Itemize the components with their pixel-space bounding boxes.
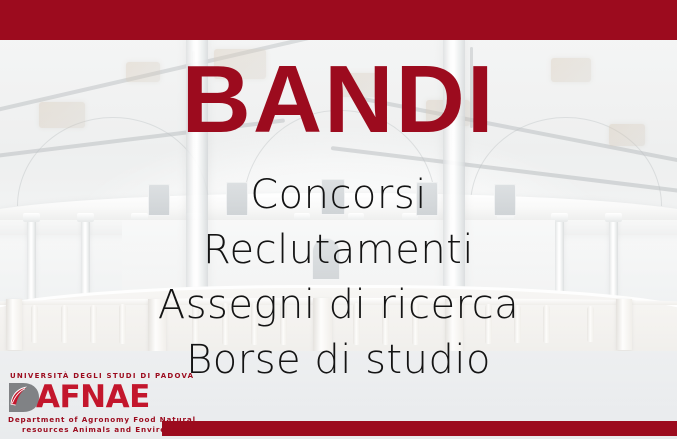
subtitle-concorsi: Concorsi [0, 168, 677, 223]
logo-department-line-2: resources Animals and Environment [22, 425, 178, 435]
subtitle-list: Concorsi Reclutamenti Assegni di ricerca… [0, 168, 677, 388]
bottom-red-bar [162, 421, 677, 436]
subtitle-reclutamenti: Reclutamenti [0, 223, 677, 278]
logo-acronym: AFNAE [36, 380, 150, 414]
logo-department-lines: Department of Agronomy Food Natural reso… [8, 415, 178, 435]
logo-wordmark: AFNAE [8, 382, 178, 413]
page-title: BANDI [0, 52, 677, 148]
subtitle-assegni-ricerca: Assegni di ricerca [0, 278, 677, 333]
dafnae-logo: UNIVERSITÀ DEGLI STUDI DI PADOVA AFNAE D… [8, 372, 178, 435]
logo-department-line-1: Department of Agronomy Food Natural [8, 415, 196, 424]
bandi-banner: BANDI Concorsi Reclutamenti Assegni di r… [0, 0, 677, 439]
top-red-bar [0, 0, 677, 40]
